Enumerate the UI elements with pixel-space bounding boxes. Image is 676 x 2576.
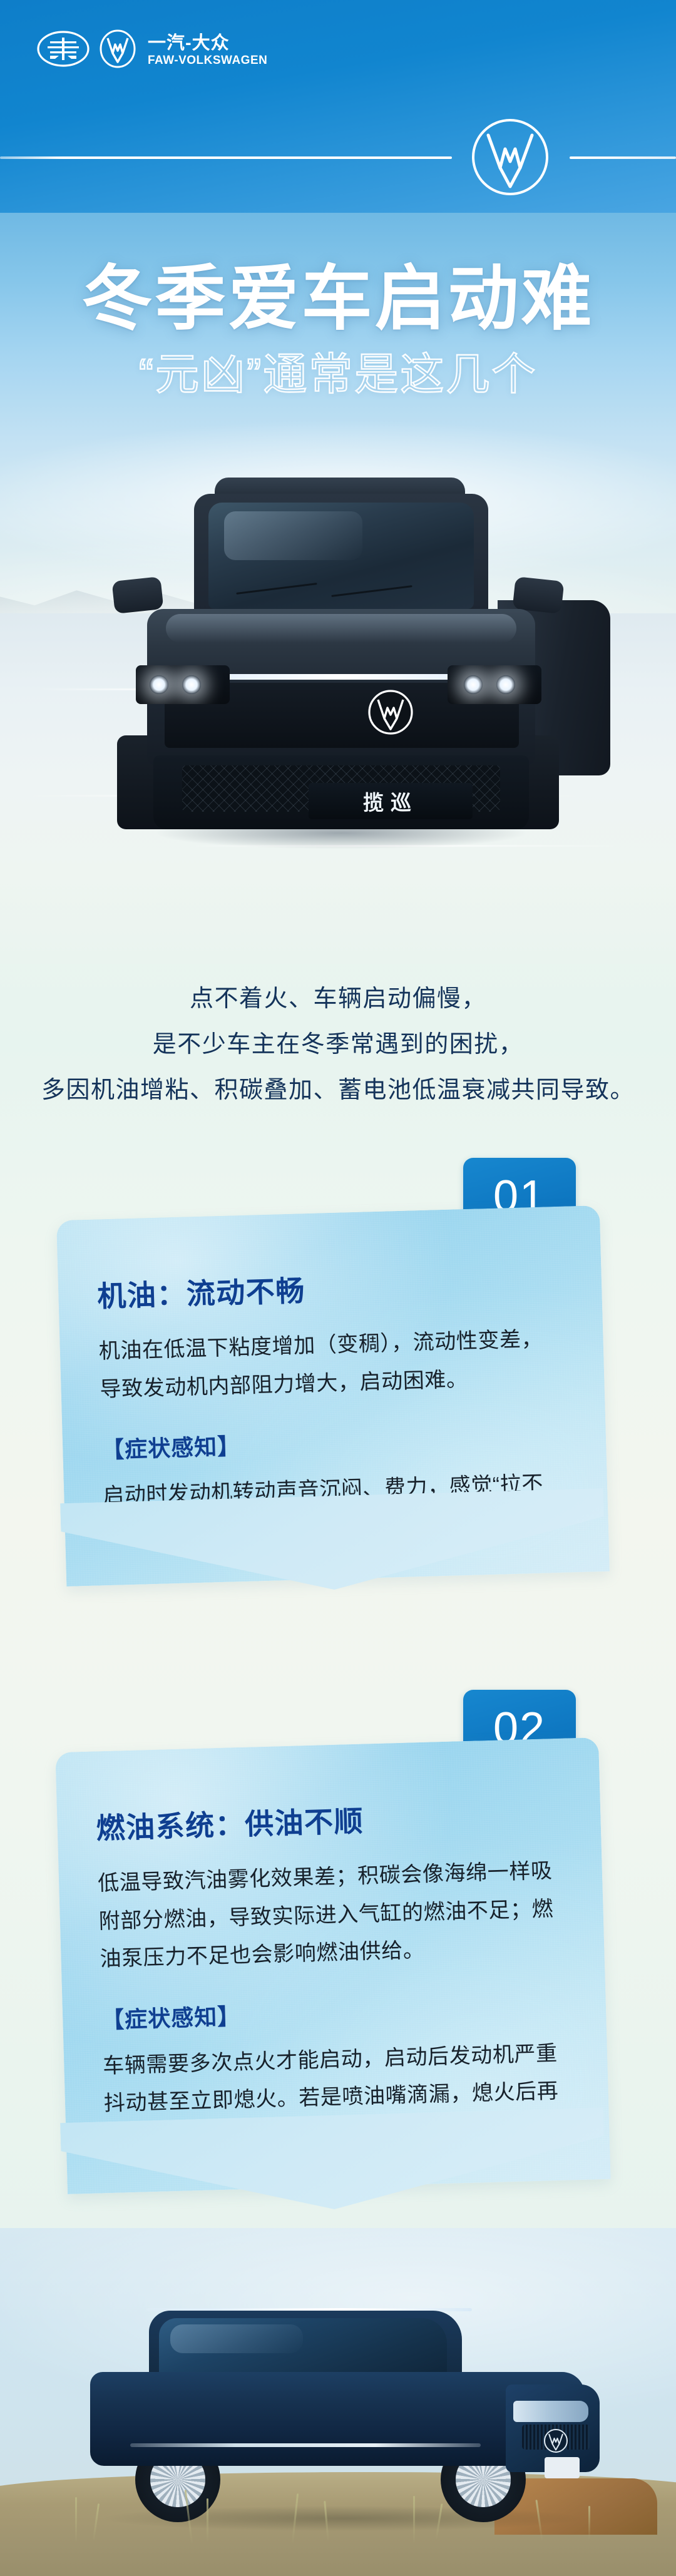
symptom-label: 【症状感知】 <box>101 1419 567 1465</box>
card-body-text: 机油在低温下粘度增加（变稠），流动性变差，导致发动机内部阻力增大，启动困难。 <box>98 1320 566 1409</box>
car-license-plate <box>545 2457 580 2478</box>
page-subtitle: “元凶”通常是这几个 <box>0 350 676 399</box>
grass-blade <box>413 2496 415 2543</box>
wiper-icon <box>236 583 317 595</box>
intro-line: 多因机油增粘、积碳叠加、蓄电池低温衰减共同导致。 <box>0 1068 676 1113</box>
card-body-text: 低温导致汽油雾化效果差；积碳会像海绵一样吸附部分燃油，导致实际进入气缸的燃油不足… <box>97 1852 566 1978</box>
side-chrome-trim <box>130 2443 481 2447</box>
volkswagen-roundel-icon <box>99 29 136 68</box>
footer-car-image <box>0 2228 676 2576</box>
car-illustration <box>68 2296 618 2515</box>
volkswagen-roundel-icon <box>367 689 414 735</box>
card-title: 机油：流动不畅 <box>97 1267 563 1314</box>
grass-blade <box>75 2497 77 2542</box>
grass-blade <box>588 2506 590 2540</box>
car-mirror-right <box>512 576 564 614</box>
car-model-name: 揽巡 <box>363 786 418 816</box>
grass-blade <box>207 2498 208 2542</box>
svg-text:一汽-大众: 一汽-大众 <box>148 33 230 53</box>
vw-roundel-large <box>471 118 550 197</box>
card-title: 燃油系统：供油不顺 <box>96 1799 562 1846</box>
faw-emblem-icon <box>36 30 90 68</box>
car-mirror-left <box>111 576 163 614</box>
car-license-plate: 揽巡 <box>309 783 473 819</box>
page-title: 冬季爱车启动难 <box>0 262 676 337</box>
intro-line: 点不着火、车辆启动偏慢， <box>0 976 676 1022</box>
header-rule-left <box>0 156 452 159</box>
brand-header: 一汽-大众 FAW-VOLKSWAGEN <box>0 0 676 213</box>
volkswagen-roundel-icon <box>471 118 550 197</box>
car-hood-highlight <box>166 614 516 643</box>
lamp-glow-icon <box>150 675 168 694</box>
car-headlight <box>513 2401 588 2422</box>
card-content: 燃油系统：供油不顺 低温导致汽油雾化效果差；积碳会像海绵一样吸附部分燃油，导致实… <box>57 1797 610 2162</box>
header-rule-right <box>570 156 676 159</box>
infographic-page: 一汽-大众 FAW-VOLKSWAGEN 冬季爱车启动难 “元凶”通常是这几个 <box>0 0 676 2576</box>
lamp-glow-icon <box>464 675 483 694</box>
hero-car-image: 揽巡 <box>59 466 617 842</box>
car-windshield <box>208 503 474 609</box>
brand-logo-lockup[interactable]: 一汽-大众 FAW-VOLKSWAGEN <box>36 29 279 68</box>
hero-section: 冬季爱车启动难 “元凶”通常是这几个 <box>0 213 676 964</box>
brand-name-en: FAW-VOLKSWAGEN <box>148 54 279 66</box>
lamp-glow-icon <box>496 675 515 694</box>
car-headlight-right <box>448 665 541 704</box>
car-windows <box>159 2318 447 2378</box>
lamp-glow-icon <box>182 675 201 694</box>
intro-line: 是不少车主在冬季常遇到的困扰， <box>0 1022 676 1068</box>
brand-wordmark: 一汽-大众 FAW-VOLKSWAGEN <box>148 32 279 66</box>
intro-paragraph: 点不着火、车辆启动偏慢， 是不少车主在冬季常遇到的困扰， 多因机油增粘、积碳叠加… <box>0 976 676 1113</box>
volkswagen-roundel-icon <box>543 2428 568 2453</box>
symptom-label: 【症状感知】 <box>101 1989 567 2035</box>
car-headlight-left <box>136 665 230 704</box>
hero-title-block: 冬季爱车启动难 “元凶”通常是这几个 <box>0 262 676 399</box>
brand-name-cn-icon: 一汽-大众 <box>148 32 279 53</box>
wiper-icon <box>331 585 412 597</box>
